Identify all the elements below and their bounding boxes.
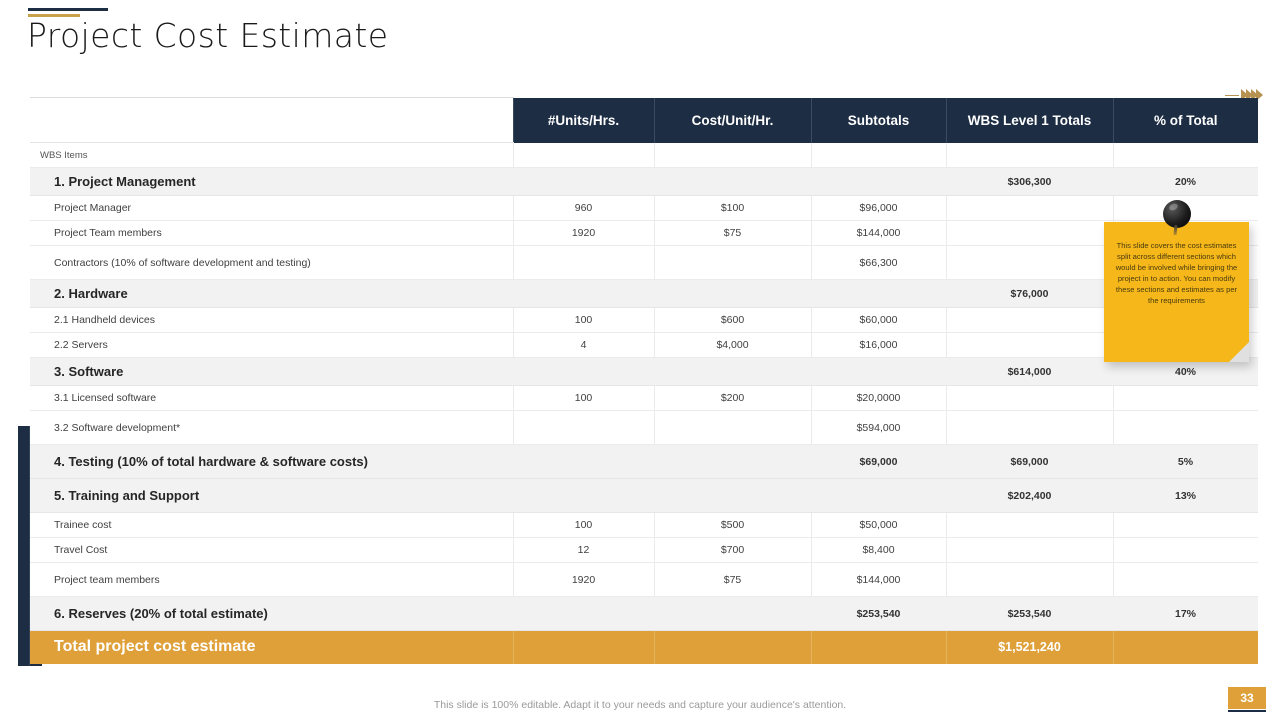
cell-wbs-total [946, 563, 1113, 597]
cell-units [513, 411, 654, 445]
cell-label: 3.2 Software development* [30, 411, 513, 445]
cell-units [513, 358, 654, 386]
cell-wbs-total [946, 221, 1113, 246]
cell-wbs-total: $614,000 [946, 358, 1113, 386]
cell-percent-of-total: 17% [1113, 597, 1258, 631]
cell-label: 4. Testing (10% of total hardware & soft… [30, 445, 513, 479]
cell-cost-per-unit [654, 597, 811, 631]
cell-units: 12 [513, 538, 654, 563]
cell-subtotal: $20,0000 [811, 386, 946, 411]
cell-wbs-total: $69,000 [946, 445, 1113, 479]
table-row[interactable]: 2.1 Handheld devices100$600$60,000 [30, 308, 1258, 333]
table-row[interactable]: Project Team members1920$75$144,000 [30, 221, 1258, 246]
column-header-wbs-level-1-totals[interactable]: WBS Level 1 Totals [946, 98, 1113, 143]
cell-units: 100 [513, 308, 654, 333]
cell-cost-per-unit [654, 411, 811, 445]
table-row[interactable]: Project Manager960$100$96,000 [30, 196, 1258, 221]
cell-cost-per-unit: $500 [654, 513, 811, 538]
column-header-subtotals[interactable]: Subtotals [811, 98, 946, 143]
cell-units [513, 246, 654, 280]
cell-cost-per-unit: $600 [654, 308, 811, 333]
cell-wbs-total [946, 196, 1113, 221]
cell-total-units [513, 631, 654, 664]
cell-empty [1113, 143, 1258, 168]
cell-subtotal [811, 168, 946, 196]
cell-label: 6. Reserves (20% of total estimate) [30, 597, 513, 631]
cell-label: 5. Training and Support [30, 479, 513, 513]
cell-label: Project Manager [30, 196, 513, 221]
cost-estimate-table: #Units/Hrs. Cost/Unit/Hr. Subtotals WBS … [30, 97, 1258, 664]
cell-total-cost [654, 631, 811, 664]
cell-percent-of-total [1113, 513, 1258, 538]
cell-units: 1920 [513, 221, 654, 246]
cost-estimate-table-container: #Units/Hrs. Cost/Unit/Hr. Subtotals WBS … [30, 97, 1258, 664]
pushpin-icon [1163, 200, 1191, 228]
cell-subtotal: $69,000 [811, 445, 946, 479]
cell-subtotal: $594,000 [811, 411, 946, 445]
cell-cost-per-unit: $100 [654, 196, 811, 221]
cell-total-wbs: $1,521,240 [946, 631, 1113, 664]
cell-cost-per-unit [654, 445, 811, 479]
cell-label: Contractors (10% of software development… [30, 246, 513, 280]
page-number-badge: 33 [1228, 687, 1266, 709]
table-row[interactable]: Trainee cost100$500$50,000 [30, 513, 1258, 538]
cell-subtotal: $8,400 [811, 538, 946, 563]
cell-wbs-total: $76,000 [946, 280, 1113, 308]
cell-wbs-total [946, 386, 1113, 411]
cell-empty [654, 143, 811, 168]
table-row-group[interactable]: 6. Reserves (20% of total estimate)$253,… [30, 597, 1258, 631]
cell-cost-per-unit: $75 [654, 221, 811, 246]
cell-units: 1920 [513, 563, 654, 597]
cell-subtotal: $50,000 [811, 513, 946, 538]
cell-cost-per-unit [654, 280, 811, 308]
cell-label: Project Team members [30, 221, 513, 246]
cell-percent-of-total: 20% [1113, 168, 1258, 196]
cell-cost-per-unit: $700 [654, 538, 811, 563]
cell-subtotal [811, 479, 946, 513]
cell-empty [811, 143, 946, 168]
cell-units: 100 [513, 513, 654, 538]
cell-percent-of-total: 5% [1113, 445, 1258, 479]
cell-wbs-total: $253,540 [946, 597, 1113, 631]
cell-wbs-total [946, 333, 1113, 358]
cell-subtotal: $66,300 [811, 246, 946, 280]
cell-cost-per-unit: $75 [654, 563, 811, 597]
cell-units: 100 [513, 386, 654, 411]
cell-wbs-items-label: WBS Items [30, 143, 513, 168]
cell-percent-of-total [1113, 386, 1258, 411]
cell-label: Travel Cost [30, 538, 513, 563]
column-header-cost-per-unit[interactable]: Cost/Unit/Hr. [654, 98, 811, 143]
cell-label: Trainee cost [30, 513, 513, 538]
cell-cost-per-unit: $200 [654, 386, 811, 411]
sticky-note: This slide covers the cost estimates spl… [1104, 222, 1249, 362]
cell-label: 2.2 Servers [30, 333, 513, 358]
cell-units [513, 479, 654, 513]
cell-wbs-total [946, 513, 1113, 538]
cell-subtotal [811, 280, 946, 308]
cell-cost-per-unit [654, 479, 811, 513]
column-header-wbs-items [30, 98, 513, 143]
cell-total-subtotal [811, 631, 946, 664]
cell-empty [946, 143, 1113, 168]
table-body: WBS Items1. Project Management$306,30020… [30, 143, 1258, 664]
cell-cost-per-unit [654, 168, 811, 196]
footer-note: This slide is 100% editable. Adapt it to… [0, 699, 1280, 711]
table-header: #Units/Hrs. Cost/Unit/Hr. Subtotals WBS … [30, 98, 1258, 143]
cell-units [513, 168, 654, 196]
cell-wbs-total [946, 538, 1113, 563]
cell-total-percent [1113, 631, 1258, 664]
page-number-underline [1228, 710, 1266, 712]
table-row-group[interactable]: 1. Project Management$306,30020% [30, 168, 1258, 196]
chevron-lead-line [1225, 95, 1239, 96]
cell-subtotal: $96,000 [811, 196, 946, 221]
table-row[interactable]: 3.1 Licensed software100$200$20,0000 [30, 386, 1258, 411]
cell-subtotal [811, 358, 946, 386]
table-row-group[interactable]: 3. Software$614,00040% [30, 358, 1258, 386]
cell-percent-of-total: 13% [1113, 479, 1258, 513]
cell-units [513, 445, 654, 479]
column-header-percent-of-total[interactable]: % of Total [1113, 98, 1258, 143]
cell-total-label: Total project cost estimate [30, 631, 513, 664]
table-row-group[interactable]: 5. Training and Support$202,40013% [30, 479, 1258, 513]
cell-percent-of-total [1113, 563, 1258, 597]
cell-units [513, 280, 654, 308]
table-row-total[interactable]: Total project cost estimate$1,521,240 [30, 631, 1258, 664]
cell-subtotal: $60,000 [811, 308, 946, 333]
cell-units: 960 [513, 196, 654, 221]
table-row-group[interactable]: 2. Hardware$76,000 [30, 280, 1258, 308]
table-row[interactable]: Project team members1920$75$144,000 [30, 563, 1258, 597]
sticky-note-text: This slide covers the cost estimates spl… [1104, 222, 1249, 312]
cell-cost-per-unit: $4,000 [654, 333, 811, 358]
cell-subtotal: $16,000 [811, 333, 946, 358]
cell-percent-of-total [1113, 538, 1258, 563]
slide-canvas: Project Cost Estimate #Units/Hrs. Cost/U… [0, 0, 1280, 720]
table-row[interactable]: 2.2 Servers4$4,000$16,000 [30, 333, 1258, 358]
table-row-meta: WBS Items [30, 143, 1258, 168]
cell-wbs-total: $306,300 [946, 168, 1113, 196]
cell-wbs-total [946, 411, 1113, 445]
pushpin-highlight [1168, 202, 1179, 211]
cell-empty [513, 143, 654, 168]
column-header-units-hrs[interactable]: #Units/Hrs. [513, 98, 654, 143]
cell-subtotal: $144,000 [811, 221, 946, 246]
cell-wbs-total: $202,400 [946, 479, 1113, 513]
cell-units [513, 597, 654, 631]
cell-wbs-total [946, 308, 1113, 333]
cell-wbs-total [946, 246, 1113, 280]
page-title: Project Cost Estimate [27, 16, 388, 55]
cell-label: 2. Hardware [30, 280, 513, 308]
table-row[interactable]: 3.2 Software development*$594,000 [30, 411, 1258, 445]
cell-label: 3.1 Licensed software [30, 386, 513, 411]
table-row[interactable]: Travel Cost12$700$8,400 [30, 538, 1258, 563]
table-row[interactable]: Contractors (10% of software development… [30, 246, 1258, 280]
table-row-group[interactable]: 4. Testing (10% of total hardware & soft… [30, 445, 1258, 479]
cell-units: 4 [513, 333, 654, 358]
title-rule-dark [28, 8, 108, 11]
cell-cost-per-unit [654, 246, 811, 280]
cell-label: Project team members [30, 563, 513, 597]
cell-subtotal: $144,000 [811, 563, 946, 597]
cell-label: 3. Software [30, 358, 513, 386]
cell-cost-per-unit [654, 358, 811, 386]
cell-percent-of-total [1113, 411, 1258, 445]
cell-label: 2.1 Handheld devices [30, 308, 513, 333]
cell-label: 1. Project Management [30, 168, 513, 196]
cell-subtotal: $253,540 [811, 597, 946, 631]
